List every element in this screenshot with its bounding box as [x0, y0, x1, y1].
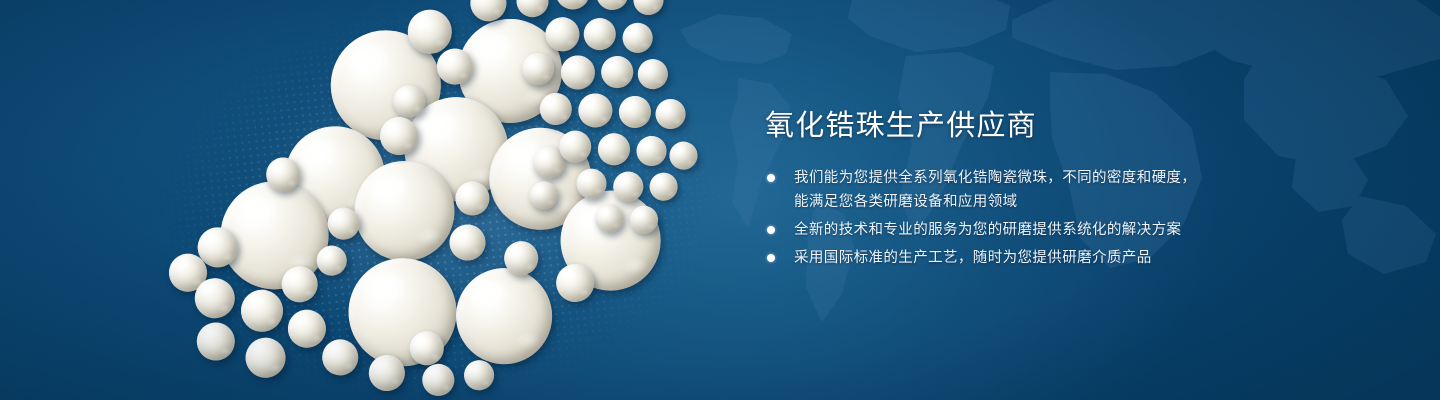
- list-item: 全新的技术和专业的服务为您的研磨提供系统化的解决方案: [765, 218, 1235, 242]
- list-item-line: 全新的技术和专业的服务为您的研磨提供系统化的解决方案: [794, 218, 1235, 242]
- list-item-line: 我们能为您提供全系列氧化锆陶瓷微珠，不同的密度和硬度，: [794, 166, 1235, 190]
- page-title: 氧化锆珠生产供应商: [765, 106, 1235, 144]
- hero-banner: 氧化锆珠生产供应商 我们能为您提供全系列氧化锆陶瓷微珠，不同的密度和硬度， 能满…: [0, 0, 1440, 400]
- list-item: 采用国际标准的生产工艺，随时为您提供研磨介质产品: [765, 246, 1235, 270]
- list-item: 我们能为您提供全系列氧化锆陶瓷微珠，不同的密度和硬度， 能满足您各类研磨设备和应…: [765, 166, 1235, 214]
- bullet-dot-icon: [767, 254, 775, 262]
- feature-list: 我们能为您提供全系列氧化锆陶瓷微珠，不同的密度和硬度， 能满足您各类研磨设备和应…: [765, 166, 1235, 270]
- list-item-line: 能满足您各类研磨设备和应用领域: [794, 190, 1235, 214]
- bullet-dot-icon: [767, 174, 775, 182]
- bullet-dot-icon: [767, 226, 775, 234]
- banner-copy: 氧化锆珠生产供应商 我们能为您提供全系列氧化锆陶瓷微珠，不同的密度和硬度， 能满…: [765, 106, 1235, 270]
- list-item-line: 采用国际标准的生产工艺，随时为您提供研磨介质产品: [794, 246, 1235, 270]
